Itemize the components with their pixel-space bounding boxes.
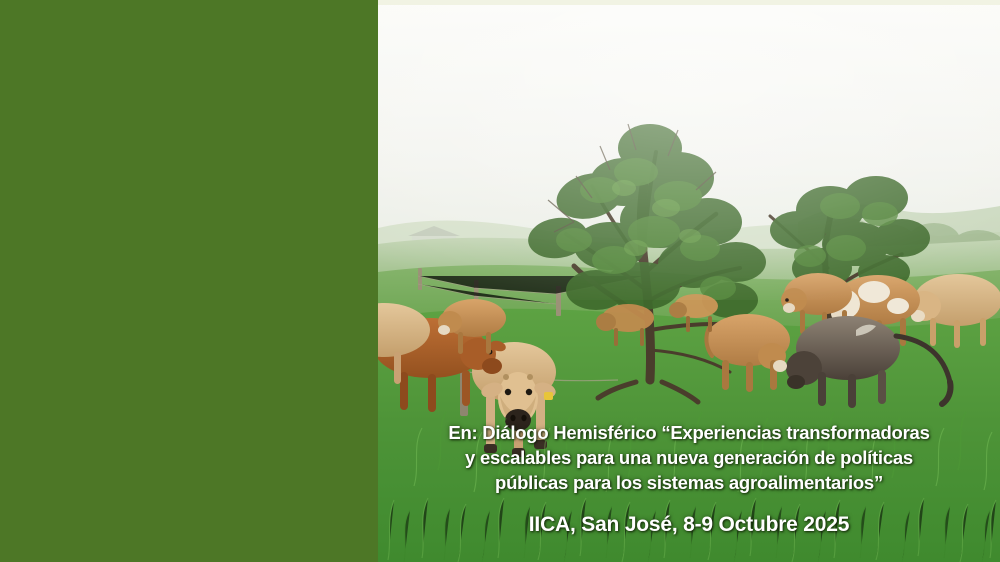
venue-and-date: IICA, San José, 8-9 Octubre 2025 bbox=[378, 513, 1000, 537]
left-green-panel bbox=[0, 0, 378, 562]
photo-caption: En: Diálogo Hemisférico “Experiencias tr… bbox=[378, 420, 1000, 495]
venue-line: IICA, San José, 8-9 Octubre 2025 bbox=[378, 513, 1000, 537]
caption-line-1: En: Diálogo Hemisférico “Experiencias tr… bbox=[386, 420, 992, 445]
caption-line-2: y escalables para una nueva generación d… bbox=[386, 445, 992, 470]
caption-line-3: públicas para los sistemas agroalimentar… bbox=[386, 470, 992, 495]
presentation-title-slide: Transformación Sostenible de la Cadena L… bbox=[0, 0, 1000, 562]
top-border-strip bbox=[378, 0, 1000, 5]
